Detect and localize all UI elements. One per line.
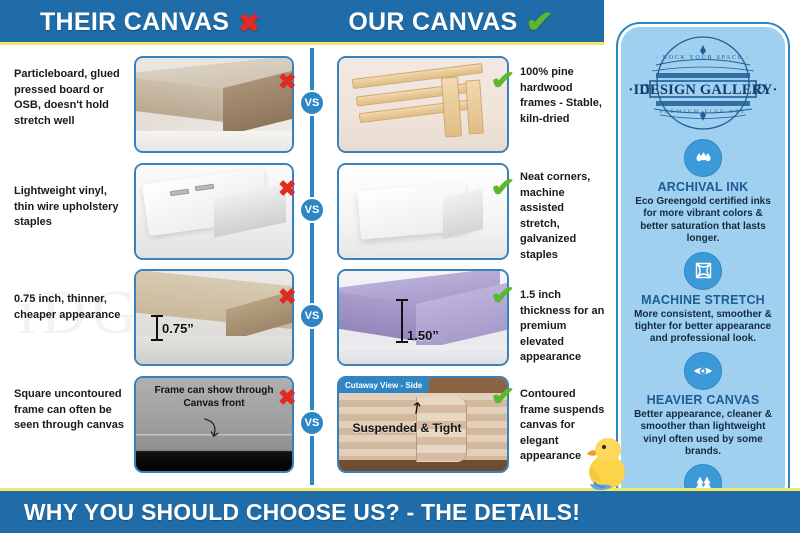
row-1-right-label: 100% pine hardwood frames - Stable, kiln… bbox=[520, 65, 606, 127]
feature-archival-ink: ARCHIVAL INK Eco Greengold certified ink… bbox=[630, 135, 776, 246]
vs-badge-row-2: VS bbox=[299, 197, 325, 223]
row-1-x-icon: ✖ bbox=[278, 71, 296, 93]
vs-badge-row-1: VS bbox=[299, 90, 325, 116]
thick-purple-canvas-photo: 1.50” bbox=[337, 269, 509, 366]
features-sidebar: · ROCK YOUR SPACE · ·IDESIGN GALLERY· PR… bbox=[604, 0, 800, 533]
row-4-left-label: Square uncontoured frame can often be se… bbox=[14, 387, 126, 434]
feature-title: ARCHIVAL INK bbox=[630, 180, 776, 194]
frame-show-through-photo: Frame can show through Canvas front ⤵ bbox=[134, 376, 294, 473]
header-their-canvas: THEIR CANVAS ✖ bbox=[0, 0, 300, 45]
vinyl-corner-staples-photo bbox=[134, 163, 294, 260]
check-icon: ✔ bbox=[525, 8, 554, 38]
eye-icon bbox=[684, 352, 722, 390]
feature-heavier-canvas: HEAVIER CANVAS Better appearance, cleane… bbox=[630, 348, 776, 459]
vs-badge-row-4: VS bbox=[299, 410, 325, 436]
logo-brand-name: ·IDESIGN GALLERY· bbox=[628, 82, 777, 98]
feature-body: More consistent, smoother & tighter for … bbox=[630, 309, 776, 346]
features-card: · ROCK YOUR SPACE · ·IDESIGN GALLERY· PR… bbox=[618, 24, 788, 507]
feature-title: MACHINE STRETCH bbox=[630, 293, 776, 307]
row-3-right-dimension: 1.50” bbox=[401, 299, 439, 343]
particleboard-frame-corner-photo bbox=[134, 56, 294, 153]
pine-hardwood-frame-photo bbox=[337, 56, 509, 153]
row-4-check-icon: ✔ bbox=[490, 383, 515, 409]
row-3-x-icon: ✖ bbox=[278, 286, 296, 308]
thin-particleboard-slab-photo: 0.75” bbox=[134, 269, 294, 366]
footer-bar: WHY YOU SHOULD CHOOSE US? - THE DETAILS! bbox=[0, 488, 800, 533]
row-3-check-icon: ✔ bbox=[490, 282, 515, 308]
dimension-value-150: 1.50” bbox=[407, 328, 439, 343]
row-2-x-icon: ✖ bbox=[278, 178, 296, 200]
dimension-value-075: 0.75” bbox=[162, 321, 194, 336]
row-1-left-label: Particleboard, glued pressed board or OS… bbox=[14, 67, 126, 129]
rubber-duck-mascot bbox=[584, 432, 632, 494]
feature-body: Better appearance, cleaner & smoother th… bbox=[630, 409, 776, 459]
row-2-left-label: Lightweight vinyl, thin wire upholstery … bbox=[14, 184, 126, 231]
frame-show-through-caption: Frame can show through Canvas front bbox=[136, 384, 292, 410]
cutaway-view-tag: Cutaway View - Side bbox=[339, 378, 429, 393]
feature-body: Eco Greengold certified inks for more vi… bbox=[630, 196, 776, 246]
suspended-tight-caption: Suspended & Tight bbox=[352, 421, 461, 435]
footer-headline: WHY YOU SHOULD CHOOSE US? - THE DETAILS! bbox=[0, 499, 604, 526]
feature-title: HEAVIER CANVAS bbox=[630, 393, 776, 407]
logo-tagline-bottom: PREMIUM FINE ART bbox=[660, 109, 747, 115]
infographic-page: THEIR CANVAS ✖ OUR CANVAS ✔ iDG VS VS VS… bbox=[0, 0, 800, 533]
header-columns: THEIR CANVAS ✖ OUR CANVAS ✔ bbox=[0, 0, 600, 45]
row-3-left-dimension: 0.75” bbox=[156, 315, 194, 341]
their-canvas-title: THEIR CANVAS bbox=[40, 8, 229, 37]
row-1-check-icon: ✔ bbox=[490, 67, 515, 93]
x-icon: ✖ bbox=[238, 10, 260, 36]
ink-drops-icon bbox=[684, 139, 722, 177]
row-3-right-label: 1.5 inch thickness for an premium elevat… bbox=[520, 288, 606, 366]
brand-logo: · ROCK YOUR SPACE · ·IDESIGN GALLERY· PR… bbox=[626, 35, 780, 131]
neat-corner-galvanized-photo bbox=[337, 163, 509, 260]
row-2-check-icon: ✔ bbox=[490, 174, 515, 200]
feature-machine-stretch: MACHINE STRETCH More consistent, smoothe… bbox=[630, 248, 776, 346]
cutaway-side-view-photo: Cutaway View - Side ↗ Suspended & Tight bbox=[337, 376, 509, 473]
row-2-right-label: Neat corners, machine assisted stretch, … bbox=[520, 170, 606, 264]
logo-tagline-top: · ROCK YOUR SPACE · bbox=[656, 54, 750, 61]
row-4-x-icon: ✖ bbox=[278, 387, 296, 409]
stretch-frame-icon bbox=[684, 252, 722, 290]
our-canvas-title: OUR CANVAS bbox=[348, 8, 517, 37]
comparison-body: iDG VS VS VS VS Particleboard, glued pre… bbox=[0, 48, 600, 485]
header-our-canvas: OUR CANVAS ✔ bbox=[300, 0, 600, 45]
vs-badge-row-3: VS bbox=[299, 303, 325, 329]
row-3-left-label: 0.75 inch, thinner, cheaper appearance bbox=[14, 292, 126, 323]
